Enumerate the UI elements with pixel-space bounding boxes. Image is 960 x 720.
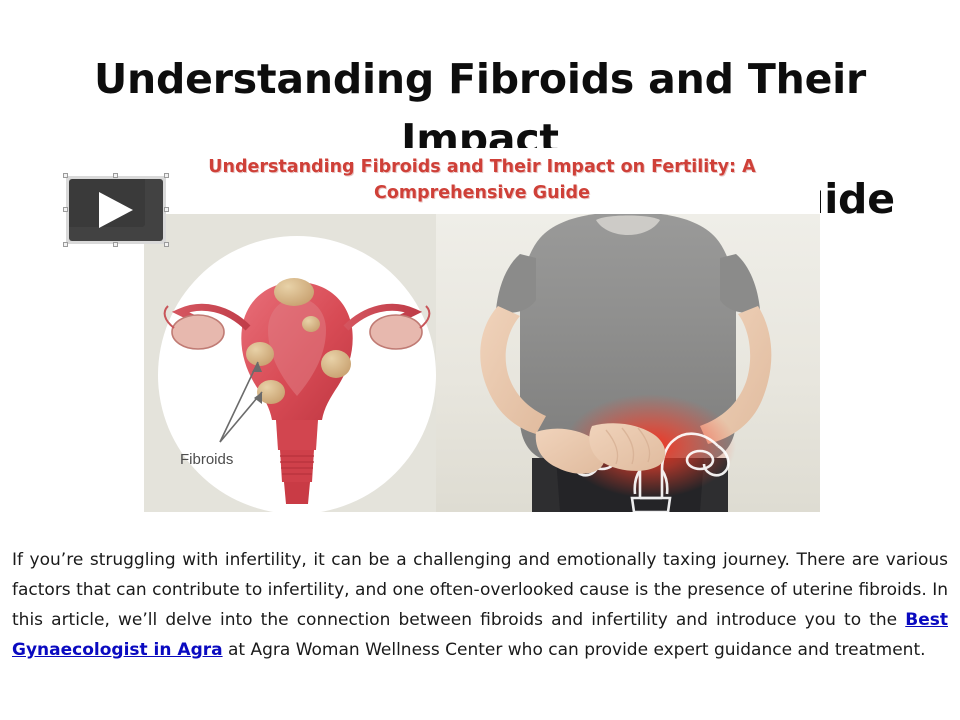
resize-handle-bottom-left[interactable] <box>63 242 68 247</box>
anatomy-circle: Illustration of a uterus with fibroids <box>158 236 436 512</box>
photo-woman-abdominal-pain: Woman in a grey t-shirt holding her lowe… <box>436 214 820 512</box>
play-button[interactable]: Play <box>66 176 166 244</box>
play-button-label: Play <box>69 241 70 242</box>
play-button-surface[interactable] <box>69 179 163 241</box>
resize-handle-top-left[interactable] <box>63 173 68 178</box>
photo-illustration <box>436 214 820 512</box>
fibroids-label: Fibroids <box>180 451 233 468</box>
fibroid-nodule <box>302 316 320 332</box>
fibroid-nodule <box>321 350 351 378</box>
uterus-fibroids-illustration: Fibroids <box>158 236 436 512</box>
fibroid-nodule <box>274 278 314 306</box>
resize-handle-bottom-center[interactable] <box>113 242 118 247</box>
figure-caption: Understanding Fibroids and Their Impact … <box>144 154 820 206</box>
resize-handle-middle-right[interactable] <box>164 207 169 212</box>
slide: Understanding Fibroids and Their Impact … <box>0 0 960 720</box>
fibroid-nodule <box>246 342 274 366</box>
right-ovary <box>370 315 422 349</box>
body-text-part-2: at Agra Woman Wellness Center who can pr… <box>223 640 926 660</box>
left-ovary <box>172 315 224 349</box>
body-paragraph: If you’re struggling with infertility, i… <box>12 545 948 665</box>
figure-media[interactable]: Woman in a grey t-shirt holding her lowe… <box>144 148 820 512</box>
resize-handle-top-right[interactable] <box>164 173 169 178</box>
play-icon <box>99 192 133 228</box>
resize-handle-middle-left[interactable] <box>63 207 68 212</box>
resize-handle-top-center[interactable] <box>113 173 118 178</box>
body-text-part-1: If you’re struggling with infertility, i… <box>12 550 948 630</box>
resize-handle-bottom-right[interactable] <box>164 242 169 247</box>
